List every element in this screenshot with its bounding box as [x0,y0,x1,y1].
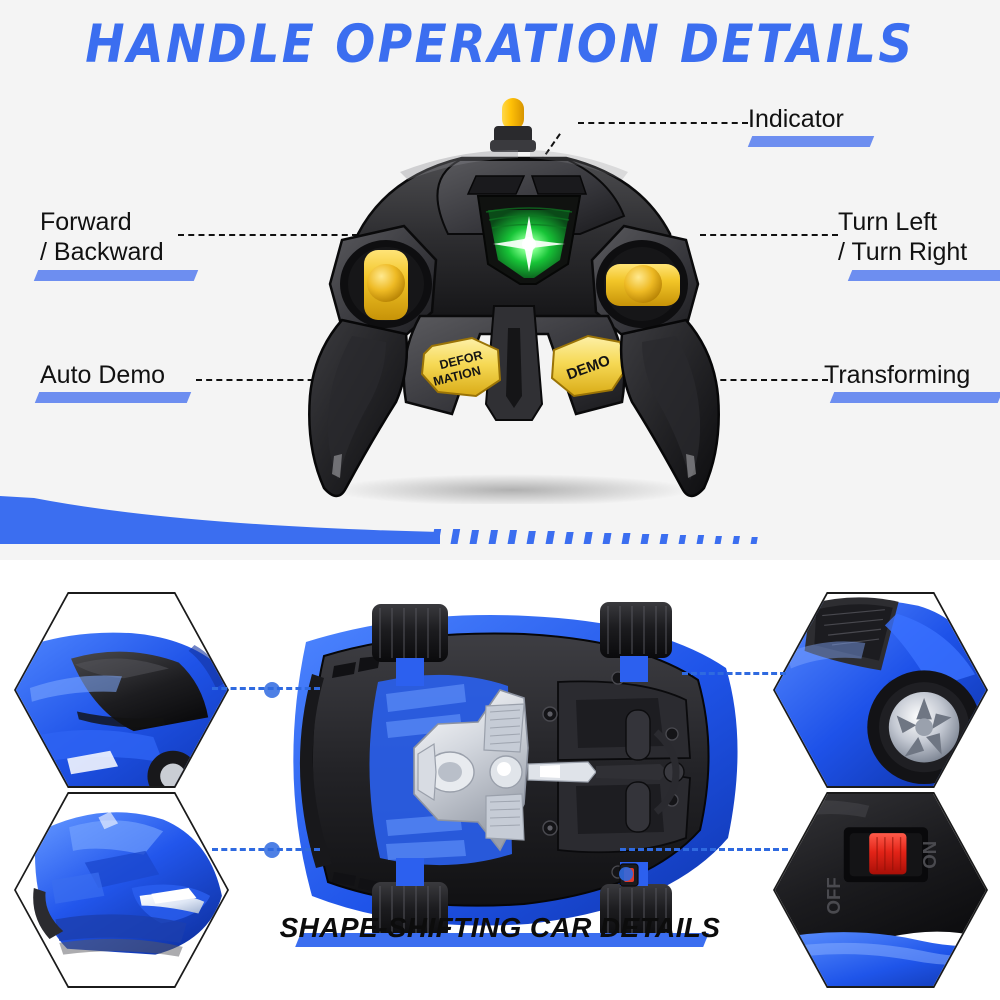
callout-transforming-label: Transforming [824,361,970,391]
wheel-front-left [372,604,448,662]
callout-forward-line1: Forward [40,208,164,238]
car-section-caption: SHAPE-SHIFTING CAR DETAILS [280,912,721,944]
callout-underline-bar [35,392,191,403]
switch-on-label: ON [919,841,940,869]
callout-forward-backward: Forward / Backward [40,208,164,267]
car-caption-wrapper: SHAPE-SHIFTING CAR DETAILS [0,912,1000,944]
roof-windshield-art [16,594,227,786]
car-underside-illustration [228,582,772,962]
callout-underline-bar [848,270,1000,281]
callout-turn-left-right: Turn Left / Turn Right [838,208,967,267]
hex-photo-inner [16,594,227,786]
connector-roof-detail [212,687,320,690]
callout-forward-line2: / Backward [40,238,164,268]
page-title: HANDLE OPERATION DETAILS [0,14,1000,76]
callout-indicator-label: Indicator [748,105,844,135]
power-switch-art: OFF ON [775,794,986,986]
detail-photo-front-bumper-headlight [14,792,229,988]
callout-turn-line2: / Turn Right [838,238,967,268]
callout-transforming: Transforming [824,361,970,391]
callout-underline-bar [34,270,198,281]
shape-shifting-car-panel: OFF ON [0,560,1000,1000]
hex-photo-inner [775,594,986,786]
connector-front-bumper-detail [212,848,320,851]
callout-auto-demo: Auto Demo [40,361,165,391]
antenna-indicator-light [502,98,524,130]
front-bumper-art [16,794,227,986]
section-divider-swoosh [0,496,1000,566]
deformation-button[interactable]: DEFOR MATION [422,338,500,396]
callout-indicator: Indicator [748,105,844,135]
anchor-dot-switch [619,867,633,881]
anchor-dot-roof [264,682,280,698]
detail-photo-power-switch: OFF ON [773,792,988,988]
handle-operation-panel: HANDLE OPERATION DETAILS Indicator Forwa… [0,0,1000,560]
callout-turn-line1: Turn Left [838,208,967,238]
connector-wheel-detail [682,672,786,675]
detail-photo-wheel-rim [773,592,988,788]
wheel-rear-left [600,602,672,658]
detail-photo-roof-windshield [14,592,229,788]
switch-off-label: OFF [823,877,844,914]
callout-underline-bar [830,392,1000,403]
callout-underline-bar [748,136,874,147]
callout-auto-demo-label: Auto Demo [40,361,165,391]
rc-controller-illustration: DEFOR MATION DEMO [280,84,740,504]
wheel-rim-art [775,594,986,786]
connector-power-switch-detail [620,848,788,851]
hex-photo-inner: OFF ON [775,794,986,986]
hex-photo-inner [16,794,227,986]
